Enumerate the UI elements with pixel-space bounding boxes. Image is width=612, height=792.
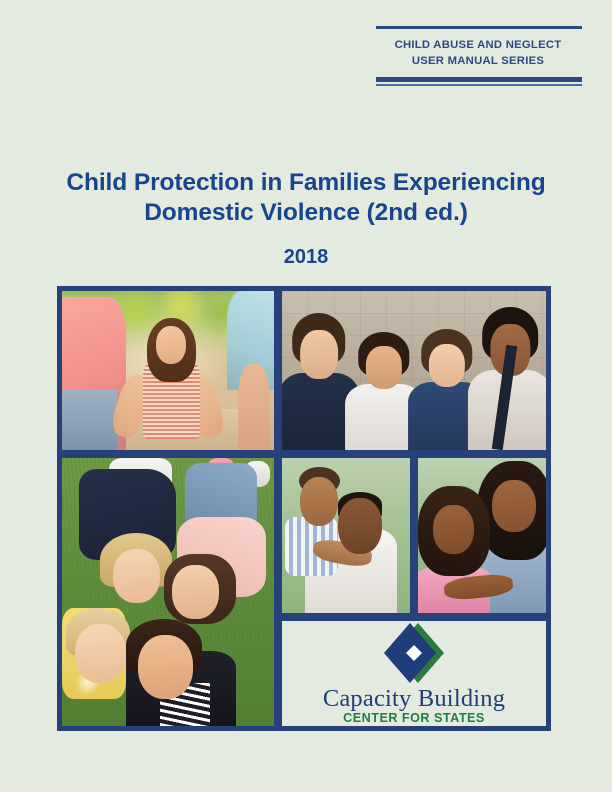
photo-kids-grass (62, 458, 274, 726)
girl-face (156, 326, 186, 364)
series-rule-bottom-thin (376, 84, 582, 86)
logo-wordmark: Capacity Building CENTER FOR STATES (282, 685, 546, 725)
photo-girl-park-art (62, 291, 274, 450)
logo-panel: Capacity Building CENTER FOR STATES (282, 621, 546, 726)
title-block: Child Protection in Families Experiencin… (30, 168, 582, 269)
child-2-face (172, 565, 219, 619)
series-header-block: CHILD ABUSE AND NEGLECT USER MANUAL SERI… (376, 26, 582, 86)
child-face (300, 477, 338, 527)
child-1-face (113, 549, 160, 603)
series-line-2: USER MANUAL SERIES (376, 54, 580, 70)
teen-figure-1 (285, 313, 354, 450)
adult-right-arm (238, 364, 270, 450)
photo-father-child-art (282, 458, 410, 613)
publication-year: 2018 (30, 246, 582, 269)
logo-name: Capacity Building (282, 685, 546, 712)
father-face (338, 498, 382, 554)
photo-four-teens-art (282, 291, 546, 450)
teen-3-face (429, 344, 465, 387)
document-title: Child Protection in Families Experiencin… (30, 168, 582, 228)
capacity-building-diamond-icon (382, 621, 446, 685)
photo-four-teens (282, 291, 546, 450)
child-3-face (75, 624, 126, 683)
photo-girl-park (62, 291, 274, 450)
teen-figure-2 (351, 332, 417, 450)
mother-face (492, 480, 536, 533)
photo-father-child (282, 458, 410, 613)
photo-collage: Capacity Building CENTER FOR STATES (57, 286, 551, 731)
series-header-text: CHILD ABUSE AND NEGLECT USER MANUAL SERI… (376, 29, 582, 77)
photo-mother-daughter (418, 458, 546, 613)
photo-kids-grass-art (62, 458, 274, 726)
document-title-line-1: Child Protection in Families Experiencin… (30, 168, 582, 198)
series-line-1: CHILD ABUSE AND NEGLECT (376, 38, 580, 54)
teen-1-face (300, 330, 338, 379)
adult-left-jeans (62, 390, 117, 450)
photo-mother-daughter-art (418, 458, 546, 613)
child-4-face (138, 635, 193, 699)
daughter-face (433, 505, 474, 555)
document-title-line-2: Domestic Violence (2nd ed.) (30, 198, 582, 228)
logo-subtitle: CENTER FOR STATES (282, 711, 546, 725)
teen-2-face (365, 346, 401, 388)
photo-collage-grid: Capacity Building CENTER FOR STATES (62, 291, 546, 726)
